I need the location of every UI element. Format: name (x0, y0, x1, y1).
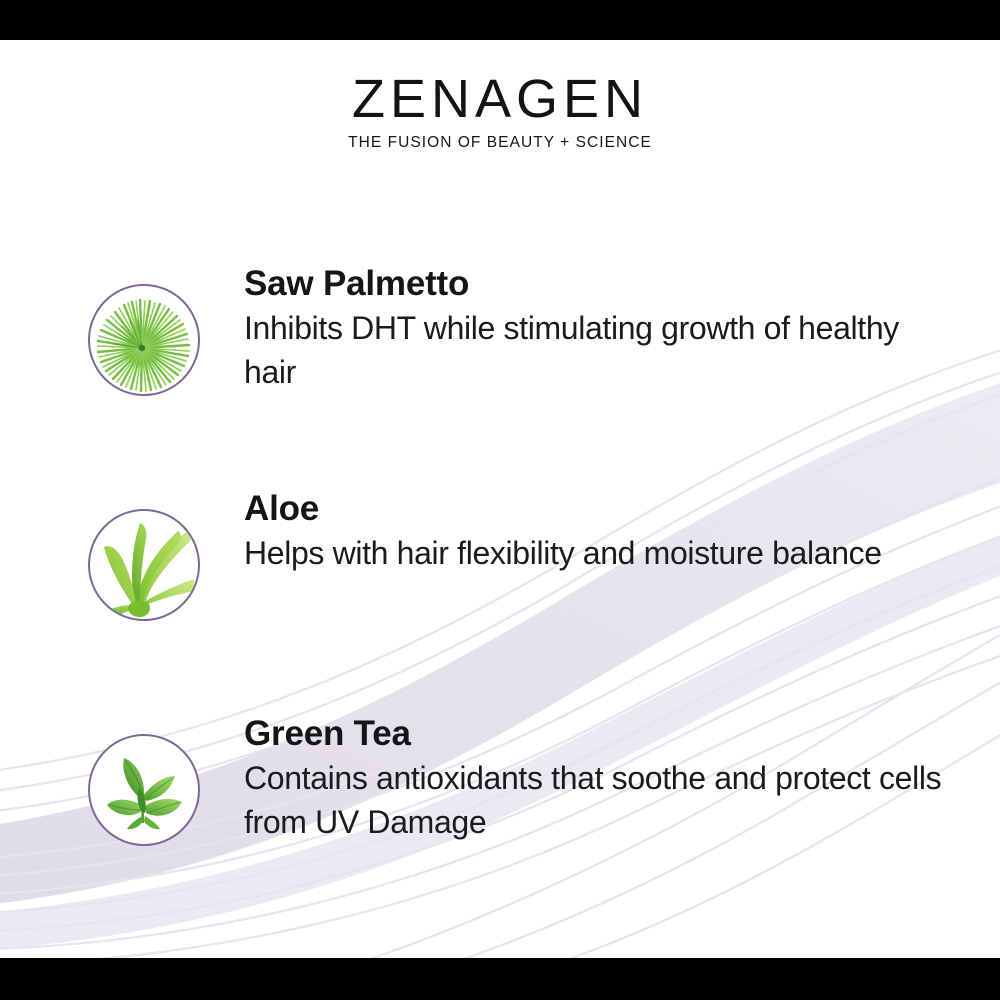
ingredient-list: Saw Palmetto Inhibits DHT while stimulat… (0, 0, 1000, 1000)
ingredient-title: Green Tea (244, 714, 944, 753)
ingredient-title: Aloe (244, 489, 882, 528)
ingredient-item-saw-palmetto: Saw Palmetto Inhibits DHT while stimulat… (88, 262, 968, 396)
ingredient-title: Saw Palmetto (244, 264, 944, 303)
ingredient-item-aloe: Aloe Helps with hair flexibility and moi… (88, 487, 968, 621)
letterbox-bar-top (0, 0, 1000, 40)
letterbox-bar-bottom (0, 958, 1000, 1000)
ingredient-description: Helps with hair flexibility and moisture… (244, 531, 882, 575)
ingredient-text-green-tea: Green Tea Contains antioxidants that soo… (244, 712, 944, 845)
ingredient-description: Inhibits DHT while stimulating growth of… (244, 306, 944, 394)
ingredient-item-green-tea: Green Tea Contains antioxidants that soo… (88, 712, 968, 846)
aloe-leaf-icon (88, 509, 200, 621)
green-tea-leaf-icon (88, 734, 200, 846)
promo-graphic: ZENAGEN THE FUSION OF BEAUTY + SCIENCE (0, 0, 1000, 1000)
ingredient-text-saw-palmetto: Saw Palmetto Inhibits DHT while stimulat… (244, 262, 944, 395)
ingredient-description: Contains antioxidants that soothe and pr… (244, 756, 944, 844)
ingredient-text-aloe: Aloe Helps with hair flexibility and moi… (244, 487, 882, 575)
saw-palmetto-leaf-icon (88, 284, 200, 396)
